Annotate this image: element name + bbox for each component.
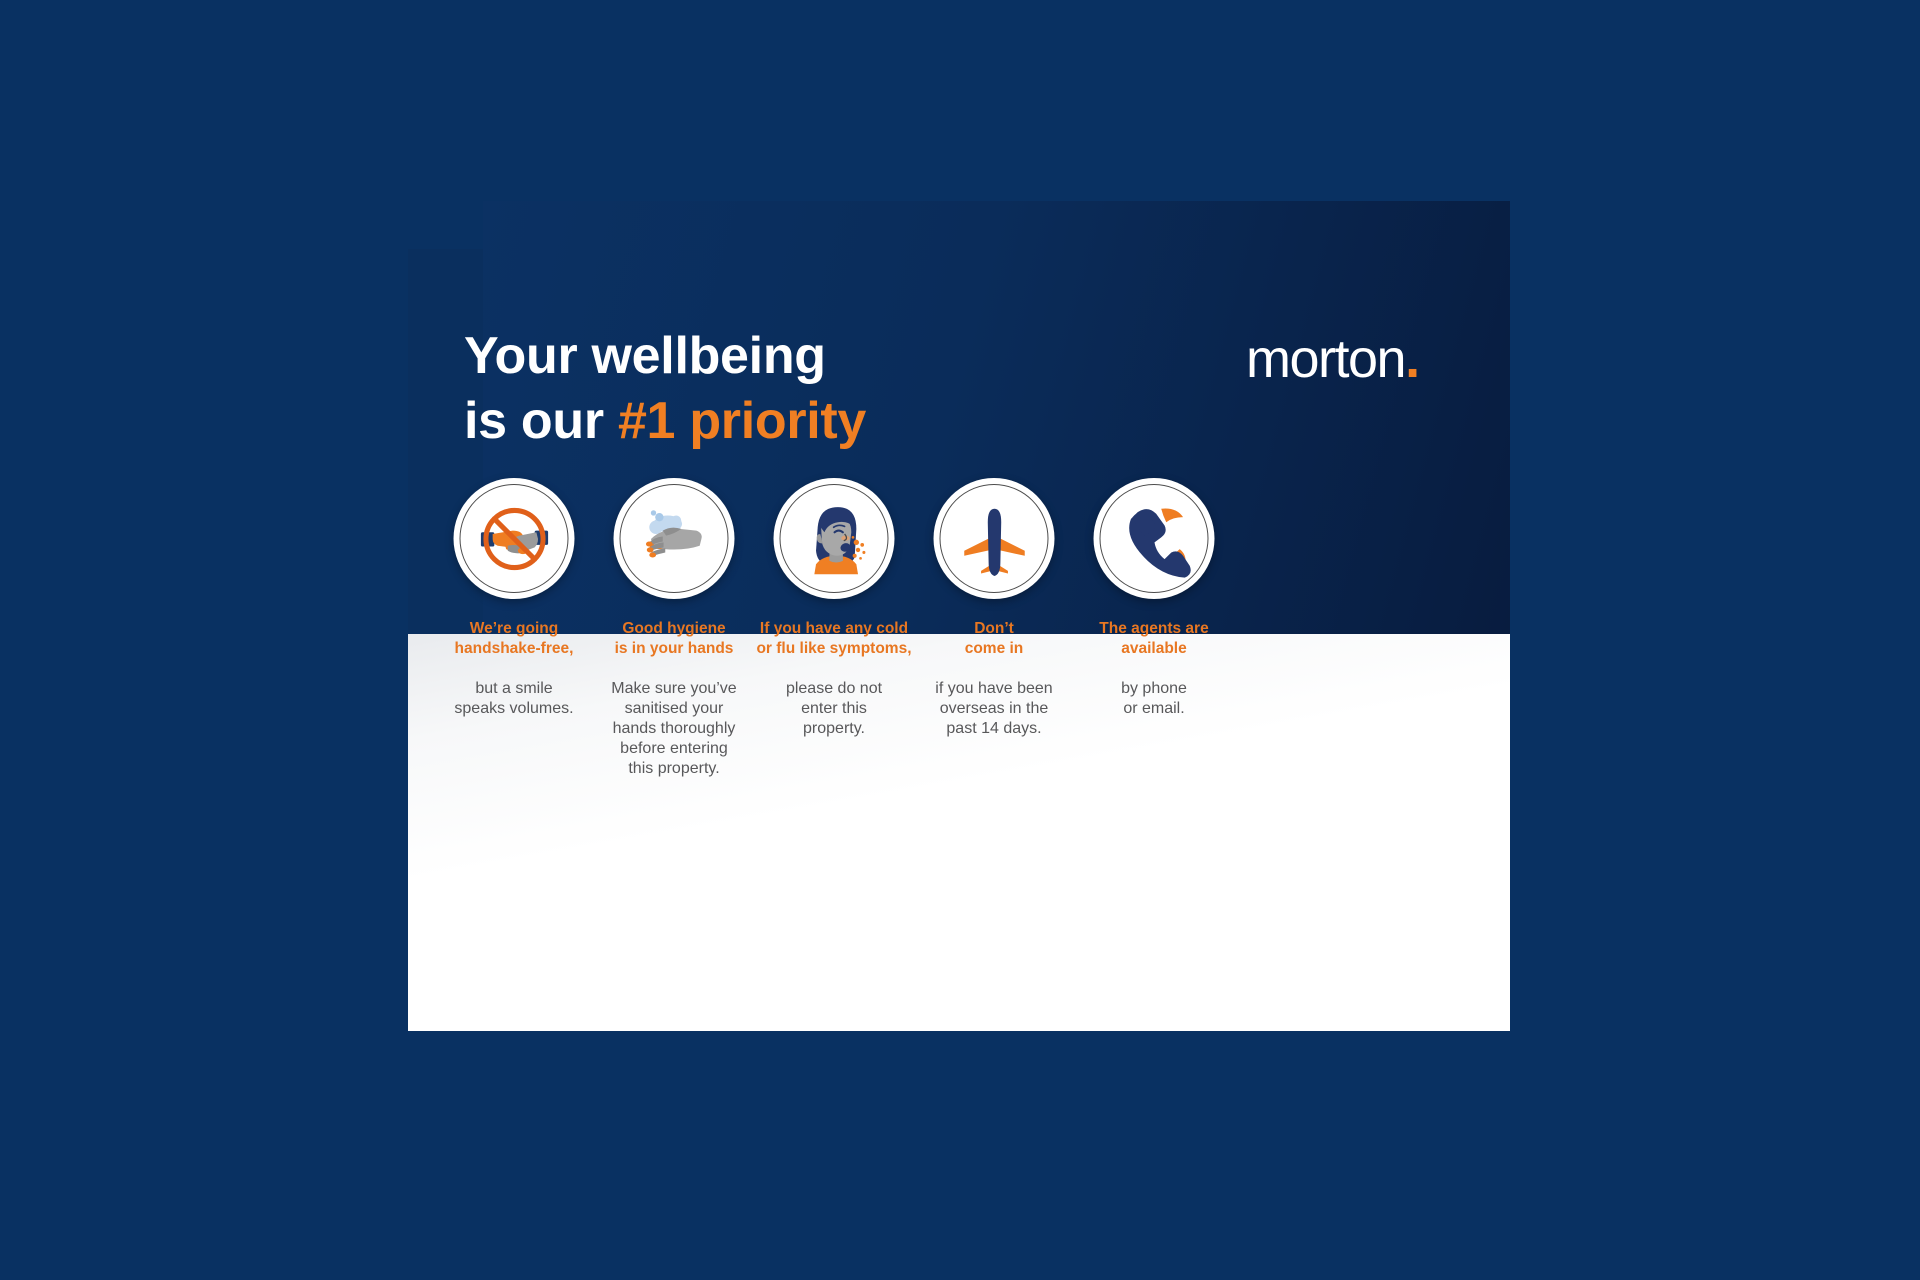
no-handshake-icon (454, 478, 575, 599)
headline-line-1: Your wellbeing (464, 327, 866, 386)
logo-wordmark: morton (1246, 329, 1405, 389)
caption-body-4: by phone or email. (1061, 679, 1247, 719)
wellbeing-poster: Your wellbeing is our #1 priority morton… (408, 249, 1510, 1031)
caption-body-0: but a smile speaks volumes. (421, 679, 607, 719)
sneezing-person-icon (774, 478, 895, 599)
telephone-handset-icon (1094, 478, 1215, 599)
caption-column-0: We’re going handshake-free, but a smile … (421, 619, 607, 719)
airplane-icon (934, 478, 1055, 599)
icon-row (408, 478, 1510, 608)
headline-accent: #1 priority (618, 392, 866, 450)
poster-canvas: Your wellbeing is our #1 priority morton… (0, 0, 1920, 1280)
caption-column-4: The agents are available by phone or ema… (1061, 619, 1247, 719)
logo-dot: . (1405, 329, 1419, 389)
caption-title-4: The agents are available (1049, 619, 1259, 660)
hand-washing-icon (614, 478, 735, 599)
headline-line-2: is our #1 priority (464, 392, 866, 451)
morton-logo: morton. (1246, 332, 1419, 386)
page-title: Your wellbeing is our #1 priority (464, 327, 866, 452)
headline-line-2-prefix: is our (464, 392, 618, 450)
caption-body-1: Make sure you’ve sanitised your hands th… (581, 679, 767, 779)
